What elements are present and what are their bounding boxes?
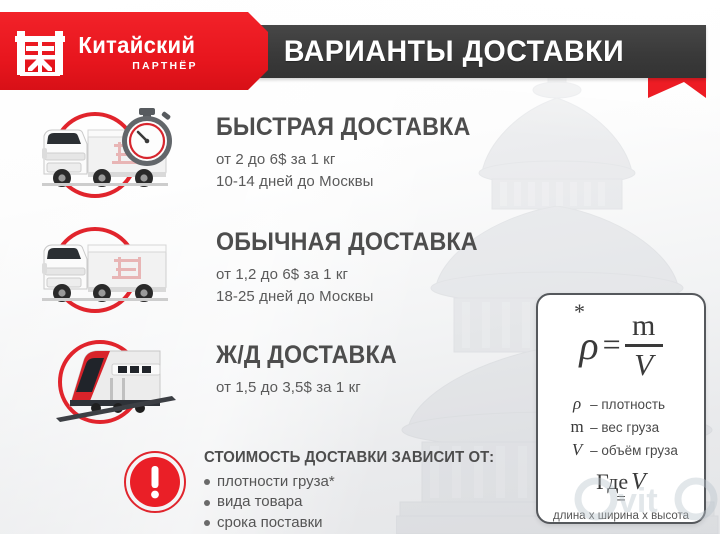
delivery-details: от 1,5 до 3,5$ за 1 кг bbox=[216, 377, 411, 399]
delivery-options-poster: ВАРИАНТЫ ДОСТАВКИ bbox=[0, 0, 720, 534]
delivery-price: от 1,5 до 3,5$ за 1 кг bbox=[216, 377, 411, 399]
fraction: m V bbox=[625, 311, 663, 380]
rho-symbol: ρ bbox=[579, 326, 598, 366]
cost-note-texts: СТОИМОСТЬ ДОСТАВКИ ЗАВИСИТ ОТ: плотности… bbox=[204, 449, 506, 533]
delivery-details: от 2 до 6$ за 1 кг 10-14 дней до Москвы bbox=[216, 149, 490, 193]
list-item-label: плотности груза* bbox=[217, 472, 335, 492]
legend-text: – вес груза bbox=[590, 420, 659, 435]
legend-symbol: ρ bbox=[564, 394, 590, 414]
delivery-option-rail: Ж/Д ДОСТАВКА от 1,5 до 3,5$ за 1 кг bbox=[26, 334, 411, 430]
page-title: ВАРИАНТЫ ДОСТАВКИ bbox=[226, 25, 682, 78]
delivery-text-block: ОБЫЧНАЯ ДОСТАВКА от 1,2 до 6$ за 1 кг 18… bbox=[216, 221, 497, 308]
denominator: V bbox=[634, 349, 653, 380]
train-icon bbox=[26, 334, 202, 430]
delivery-price: от 2 до 6$ за 1 кг bbox=[216, 149, 490, 171]
chinese-gate-logo-icon bbox=[14, 28, 66, 78]
where-symbol: V bbox=[631, 469, 646, 496]
brand-tagline: ПАРТНЁР bbox=[76, 61, 198, 72]
bullet-icon bbox=[204, 520, 210, 526]
footnote-asterisk: * bbox=[574, 299, 585, 325]
density-equation: ρ = m V bbox=[579, 311, 662, 380]
delivery-option-standard: ОБЫЧНАЯ ДОСТАВКА от 1,2 до 6$ за 1 кг 18… bbox=[26, 221, 497, 317]
truck-fast-icon bbox=[26, 106, 202, 202]
volume-formula: длина x ширина x высота bbox=[553, 510, 689, 522]
legend-symbol: V bbox=[564, 440, 590, 460]
equals-sign: = bbox=[603, 328, 621, 364]
list-item: плотности груза* bbox=[204, 472, 506, 492]
numerator: m bbox=[632, 311, 655, 341]
delivery-title: Ж/Д ДОСТАВКА bbox=[216, 342, 397, 368]
truck-icon bbox=[26, 221, 202, 317]
legend-row: ρ – плотность bbox=[564, 394, 678, 414]
brand-logo: Китайский ПАРТНЁР bbox=[14, 28, 198, 78]
delivery-title: ОБЫЧНАЯ ДОСТАВКА bbox=[216, 229, 478, 255]
legend-text: – объём груза bbox=[590, 443, 678, 458]
exclamation-circle-icon bbox=[124, 451, 186, 513]
cost-note-list: плотности груза* вида товара срока поста… bbox=[204, 472, 506, 533]
poster-header: ВАРИАНТЫ ДОСТАВКИ bbox=[0, 12, 720, 90]
list-item-label: срока поставки bbox=[217, 513, 323, 533]
delivery-price: от 1,2 до 6$ за 1 кг bbox=[216, 264, 497, 286]
legend-symbol: m bbox=[564, 417, 590, 437]
density-formula-card: * ρ = m V ρ – плотность m – вес груза V … bbox=[536, 293, 706, 524]
list-item: вида товара bbox=[204, 492, 506, 512]
brand-wordmark: Китайский ПАРТНЁР bbox=[76, 34, 198, 72]
list-item: срока поставки bbox=[204, 513, 506, 533]
delivery-option-fast: БЫСТРАЯ ДОСТАВКА от 2 до 6$ за 1 кг 10-1… bbox=[26, 106, 490, 202]
delivery-text-block: Ж/Д ДОСТАВКА от 1,5 до 3,5$ за 1 кг bbox=[216, 334, 411, 399]
legend-row: V – объём груза bbox=[564, 440, 678, 460]
delivery-details: от 1,2 до 6$ за 1 кг 18-25 дней до Москв… bbox=[216, 264, 497, 308]
where-equals: = bbox=[616, 489, 626, 509]
formula-legend: ρ – плотность m – вес груза V – объём гр… bbox=[564, 394, 678, 460]
delivery-title: БЫСТРАЯ ДОСТАВКА bbox=[216, 114, 470, 140]
brand-name: Китайский bbox=[78, 34, 195, 57]
bullet-icon bbox=[204, 479, 210, 485]
delivery-time: 10-14 дней до Москвы bbox=[216, 171, 490, 193]
delivery-text-block: БЫСТРАЯ ДОСТАВКА от 2 до 6$ за 1 кг 10-1… bbox=[216, 106, 490, 193]
legend-text: – плотность bbox=[590, 397, 665, 412]
list-item-label: вида товара bbox=[217, 492, 302, 512]
cost-note: СТОИМОСТЬ ДОСТАВКИ ЗАВИСИТ ОТ: плотности… bbox=[128, 447, 506, 533]
bullet-icon bbox=[204, 500, 210, 506]
delivery-time: 18-25 дней до Москвы bbox=[216, 286, 497, 308]
cost-note-title: СТОИМОСТЬ ДОСТАВКИ ЗАВИСИТ ОТ: bbox=[204, 449, 494, 467]
legend-row: m – вес груза bbox=[564, 417, 678, 437]
